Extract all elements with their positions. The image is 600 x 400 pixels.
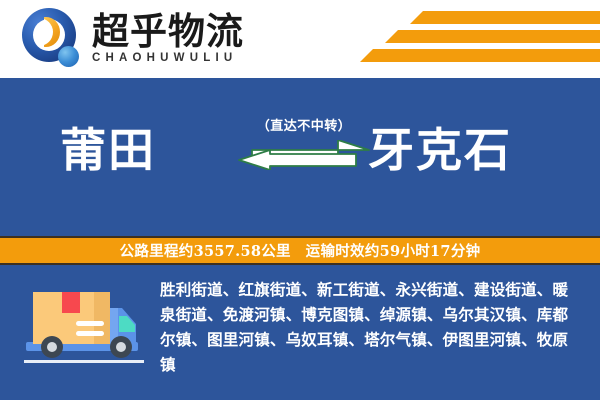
route-arrow-block: （直达不中转） 【往返运输】 (238, 115, 370, 170)
logo-accent-dot (58, 46, 79, 67)
destination-city: 牙克石 (368, 127, 512, 173)
brand-text: 超乎物流 CHAOHUWULIU (92, 10, 244, 65)
route-info-bar: 公路里程约3557.58公里 运输时效约59小时17分钟 (0, 236, 600, 265)
circle-moon-logo-icon (22, 6, 84, 68)
delivery-truck-icon (24, 281, 144, 367)
stripe-top (410, 11, 600, 24)
bidirectional-arrow-icon (238, 140, 370, 170)
stripe-bottom (360, 49, 600, 62)
logistics-route-poster: 超乎物流 CHAOHUWULIU 莆田 （直达不中转） 【往返运输】 牙克石 (0, 0, 600, 400)
coverage-areas-text: 胜利街道、红旗街道、新工街道、永兴街道、建设街道、暖泉街道、免渡河镇、博克图镇、… (160, 277, 580, 377)
direct-shipping-note: （直达不中转） (238, 115, 370, 134)
brand-logo[interactable]: 超乎物流 CHAOHUWULIU (22, 6, 244, 68)
stripe-middle (385, 30, 600, 43)
brand-name-en: CHAOHUWULIU (92, 52, 244, 64)
brand-name-cn: 超乎物流 (92, 12, 244, 51)
logo-crescent-moon (44, 17, 70, 47)
coverage-panel: 胜利街道、红旗街道、新工街道、永兴街道、建设街道、暖泉街道、免渡河镇、博克图镇、… (0, 265, 600, 400)
origin-city: 莆田 (60, 127, 156, 173)
distance-and-duration-text: 公路里程约3557.58公里 运输时效约59小时17分钟 (120, 240, 481, 261)
header-stripes-decoration (340, 8, 600, 70)
poster-header: 超乎物流 CHAOHUWULIU (0, 0, 600, 78)
route-panel: 莆田 （直达不中转） 【往返运输】 牙克石 (0, 78, 600, 236)
